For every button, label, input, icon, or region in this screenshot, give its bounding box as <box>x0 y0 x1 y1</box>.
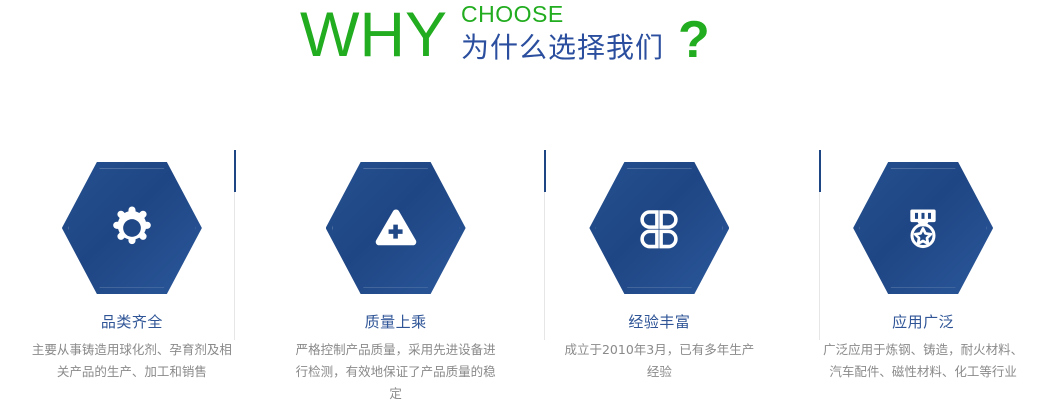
card-title: 质量上乘 <box>365 312 427 332</box>
card-description: 成立于2010年3月，已有多年生产经验 <box>559 339 759 383</box>
hexagon-badge <box>589 162 729 294</box>
hexagon-badge <box>853 162 993 294</box>
clover-icon <box>632 201 686 255</box>
feature-card-2[interactable]: 质量上乘 严格控制产品质量，采用先进设备进行检测，有效地保证了产品质量的稳定 <box>264 150 528 416</box>
feature-card-3[interactable]: 经验丰富 成立于2010年3月，已有多年生产经验 <box>528 150 792 416</box>
card-description: 主要从事铸造用球化剂、孕育剂及相关产品的生产、加工和销售 <box>32 339 232 383</box>
gear-icon <box>105 201 159 255</box>
medal-icon <box>896 201 950 255</box>
section-heading: WHY CHOOSE 为什么选择我们 ? <box>0 0 1055 92</box>
card-description: 严格控制产品质量，采用先进设备进行检测，有效地保证了产品质量的稳定 <box>296 339 496 405</box>
feature-card-4[interactable]: 应用广泛 广泛应用于炼钢、铸造，耐火材料、汽车配件、磁性材料、化工等行业 <box>791 150 1055 416</box>
card-description: 广泛应用于炼钢、铸造，耐火材料、汽车配件、磁性材料、化工等行业 <box>823 339 1023 383</box>
heading-why-word: WHY <box>300 0 447 70</box>
card-title: 品类齐全 <box>101 312 163 332</box>
hexagon-badge <box>62 162 202 294</box>
card-title: 经验丰富 <box>628 312 690 332</box>
heading-choose-word: CHOOSE <box>461 2 664 27</box>
feature-cards-row: 品类齐全 主要从事铸造用球化剂、孕育剂及相关产品的生产、加工和销售 质量上乘 严… <box>0 150 1055 416</box>
heading-chinese-title: 为什么选择我们 <box>461 31 664 65</box>
triangle-plus-icon <box>369 201 423 255</box>
why-choose-us-section: WHY CHOOSE 为什么选择我们 ? <box>0 0 1055 416</box>
hexagon-badge <box>326 162 466 294</box>
feature-card-1[interactable]: 品类齐全 主要从事铸造用球化剂、孕育剂及相关产品的生产、加工和销售 <box>0 150 264 416</box>
card-title: 应用广泛 <box>892 312 954 332</box>
heading-text-stack: CHOOSE 为什么选择我们 <box>461 0 664 65</box>
heading-inner: WHY CHOOSE 为什么选择我们 ? <box>300 0 710 70</box>
heading-question-mark: ? <box>678 14 710 70</box>
